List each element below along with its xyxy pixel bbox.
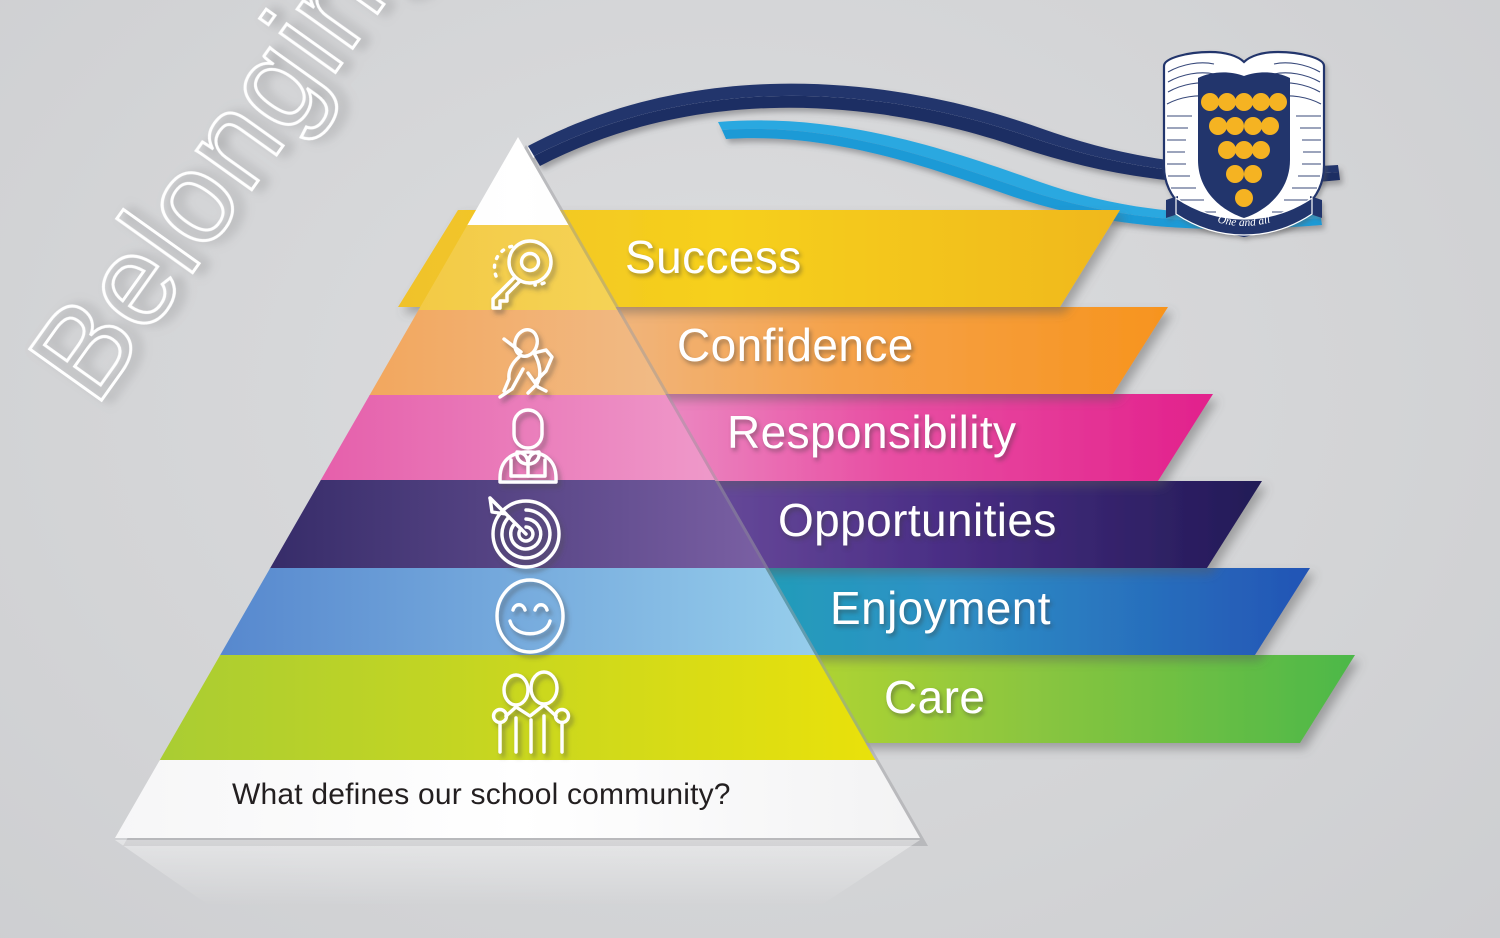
banner-label-confidence: Confidence	[677, 318, 914, 372]
banner-label-responsibility: Responsibility	[727, 405, 1016, 459]
belonging-heading: Belonging	[0, 0, 491, 426]
banner-label-opportunities: Opportunities	[778, 493, 1057, 547]
banner-label-care: Care	[884, 670, 985, 724]
banner-label-success: Success	[625, 230, 802, 284]
banner-label-enjoyment: Enjoyment	[830, 581, 1051, 635]
text-overlay-layer: Belonging Success Confidence Responsibil…	[0, 0, 1500, 938]
base-caption: What defines our school community?	[232, 778, 731, 812]
infographic-canvas: One and all	[0, 0, 1500, 938]
